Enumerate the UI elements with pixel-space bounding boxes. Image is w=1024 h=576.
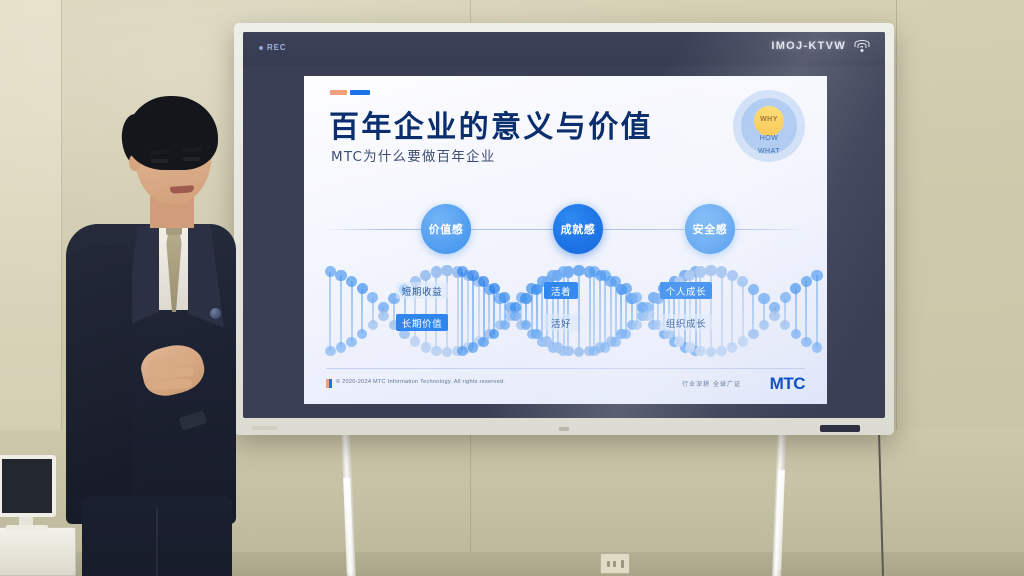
presenter-eye (151, 159, 168, 163)
dna-rung (731, 276, 733, 348)
dna-rung (329, 272, 331, 351)
dna-rung (742, 282, 744, 342)
dna-rung (340, 275, 342, 347)
dna-node (706, 347, 716, 357)
dna-label-live-well: 活好 (544, 314, 578, 331)
dna-node (531, 284, 542, 295)
dna-node (520, 293, 531, 304)
presenter-lapel-pin (210, 308, 221, 319)
dna-node (790, 283, 801, 294)
dna-node (431, 346, 441, 356)
footer-brand-logo: MTC (770, 374, 805, 394)
dna-rung (615, 281, 617, 341)
dna-node (589, 346, 599, 356)
dna-node (563, 346, 573, 356)
dna-node (574, 347, 584, 357)
dna-node (674, 336, 684, 346)
footer-divider (326, 368, 805, 369)
dna-label-org-growth: 组织成长 (660, 314, 712, 331)
dna-label-short-term-gain: 短期收益 (396, 282, 448, 299)
dna-node (684, 270, 695, 281)
dna-node (748, 329, 758, 339)
dna-node (553, 342, 563, 352)
device-code-label: IMOJ-KTVW (771, 40, 846, 52)
dna-rung (589, 272, 591, 351)
dna-node (346, 337, 356, 347)
dna-node (410, 336, 420, 346)
slide-subtitle: MTC为什么要做百年企业 (331, 145, 495, 165)
dna-node (420, 270, 431, 281)
dna-node (441, 265, 452, 276)
dna-node (621, 329, 631, 339)
dna-label-long-term-value: 长期价值 (396, 314, 448, 331)
dna-node (357, 283, 368, 294)
dna-node (467, 270, 478, 281)
dna-node (357, 329, 367, 339)
dna-node (695, 346, 705, 356)
record-dot-icon (259, 46, 263, 50)
tv-sensor-strip (252, 426, 278, 430)
dna-rung (478, 282, 480, 342)
recording-indicator: REC (259, 43, 286, 52)
dna-rung (599, 276, 601, 348)
dna-node (812, 342, 822, 352)
dna-helix-graphic (304, 254, 827, 369)
dna-node (573, 265, 584, 276)
golden-circle-how-label: HOW (733, 135, 805, 142)
dna-rung (488, 289, 490, 334)
dna-node (759, 320, 769, 330)
dna-label-personal-growth: 个人成长 (660, 282, 712, 299)
dna-node (346, 276, 357, 287)
dna-node (780, 320, 790, 330)
dna-node (531, 329, 541, 339)
golden-circle-why-label: WHY (733, 116, 805, 123)
dna-node (542, 336, 552, 346)
dna-rung (795, 289, 797, 334)
tv-ir-receiver (820, 425, 860, 432)
dna-node (478, 337, 488, 347)
dna-rung (457, 272, 459, 351)
dna-node (695, 266, 706, 277)
dna-node (478, 276, 489, 287)
presenter-hair (126, 96, 218, 170)
osd-status-group: IMOJ-KTVW (771, 40, 869, 52)
dna-node (791, 329, 801, 339)
dna-node (811, 270, 822, 281)
dna-node (801, 337, 811, 347)
dna-rung (620, 289, 622, 334)
dna-node (727, 342, 737, 352)
presentation-slide: 百年企业的意义与价值 MTC为什么要做百年企业 WHY HOW WHAT 价值感… (304, 76, 827, 404)
dna-node (367, 292, 378, 303)
dna-node (748, 284, 759, 295)
dna-node (685, 342, 695, 352)
dna-node (468, 342, 478, 352)
dna-node (780, 292, 791, 303)
dna-node (442, 347, 452, 357)
dna-node (500, 320, 510, 330)
pillar-circle-achievement: 成就感 (553, 204, 603, 254)
dna-node (705, 265, 716, 276)
dna-node (552, 270, 563, 281)
dna-node (642, 311, 652, 321)
dna-node (769, 311, 779, 321)
dna-node (610, 337, 620, 347)
dna-rung (593, 272, 595, 351)
wifi-icon (854, 40, 869, 52)
dna-node (489, 329, 499, 339)
dna-node (610, 276, 621, 287)
dna-node (599, 270, 610, 281)
presenter-trouser-seam (156, 508, 158, 576)
dna-node (368, 320, 378, 330)
presenter-eye (183, 157, 200, 161)
dna-rung (816, 275, 818, 347)
presentation-scene: REC IMOJ-KTVW 百年企业的意义与价值 MTC为什么要做百年企业 (0, 0, 1024, 576)
dna-label-survive: 活着 (544, 282, 578, 299)
tv-osd-bar: REC IMOJ-KTVW (243, 32, 885, 66)
dna-rung (467, 276, 469, 348)
footer-logo-mark (326, 379, 332, 388)
dna-rung (625, 289, 627, 334)
golden-circle-what-label: WHAT (733, 148, 805, 155)
rec-label: REC (267, 43, 286, 52)
dna-node (336, 342, 346, 352)
accent-segment-blue (350, 90, 370, 95)
pillar-circle-value: 价值感 (421, 204, 471, 254)
dna-node (325, 266, 336, 277)
dna-node (563, 266, 574, 277)
dna-node (335, 270, 346, 281)
dna-rung (483, 281, 485, 341)
tv-screen-panel[interactable]: REC IMOJ-KTVW 百年企业的意义与价值 MTC为什么要做百年企业 (243, 32, 885, 418)
dna-rung (472, 275, 474, 347)
dna-rung (361, 289, 363, 334)
dna-node (738, 336, 748, 346)
dna-node (421, 342, 431, 352)
presenter-arm (66, 246, 132, 496)
dna-node (325, 346, 335, 356)
dna-rung (461, 272, 463, 351)
dna-node (737, 276, 748, 287)
dna-node (510, 311, 520, 321)
pillar-circle-security: 安全感 (685, 204, 735, 254)
tv-brand-logo (559, 427, 569, 431)
footer-tagline: 行业深耕 全球广证 (682, 379, 741, 388)
footer-copyright: © 2020-2024 MTC Information Technology. … (336, 379, 505, 385)
dna-node (431, 266, 442, 277)
interactive-display-tv[interactable]: REC IMOJ-KTVW 百年企业的意义与价值 MTC为什么要做百年企业 (234, 23, 894, 435)
dna-node (758, 293, 769, 304)
dna-rung (721, 272, 723, 351)
accent-segment-orange (330, 90, 347, 95)
dna-node (727, 270, 738, 281)
dna-rung (604, 275, 606, 347)
dna-node (716, 346, 726, 356)
golden-circle-diagram: WHY HOW WHAT (733, 90, 805, 162)
dna-rung (493, 289, 495, 334)
dna-rung (805, 281, 807, 341)
dna-rung (610, 282, 612, 342)
dna-rung (536, 289, 538, 334)
dna-node (457, 346, 467, 356)
dna-rung (351, 281, 353, 341)
wall-power-outlet (600, 553, 630, 574)
slide-accent-bar (330, 90, 370, 95)
slide-title: 百年企业的意义与价值 (329, 102, 653, 146)
dna-rung (752, 289, 754, 334)
dna-node (632, 320, 642, 330)
dna-node (716, 266, 727, 277)
dna-rung (578, 271, 580, 353)
dna-node (378, 311, 388, 321)
presenter-speaker (30, 96, 245, 576)
dna-node (801, 276, 812, 287)
dna-node (600, 342, 610, 352)
